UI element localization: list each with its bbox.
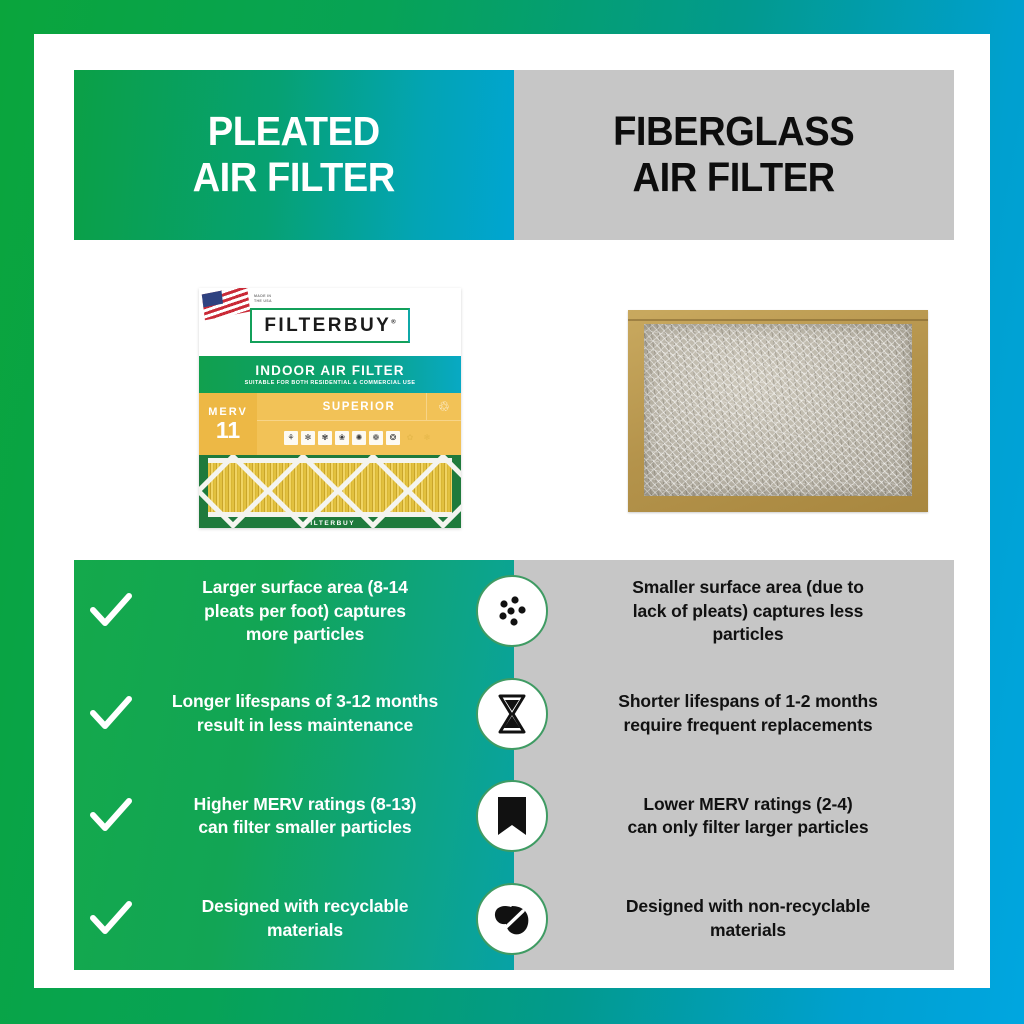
text-line: Designed with non-recyclable	[564, 895, 932, 918]
package-top-section: MADE IN THE USA FILTERBUY®	[199, 288, 461, 356]
text-line: more particles	[148, 623, 462, 646]
pleat-diamond	[335, 455, 411, 528]
feature-icon-smoke: ✺	[352, 431, 366, 445]
comparison-right-rows: Smaller surface area (due to lack of ple…	[514, 560, 954, 970]
comparison-left-text: Larger surface area (8-14 pleats per foo…	[148, 576, 514, 646]
comparison-right-text: Smaller surface area (due to lack of ple…	[514, 576, 954, 646]
check-icon	[74, 696, 148, 732]
text-line: require frequent replacements	[564, 714, 932, 737]
fiberglass-mesh-texture	[644, 324, 912, 496]
product-images-row: MADE IN THE USA FILTERBUY® INDOOR AIR FI…	[74, 240, 954, 560]
comparison-left-text: Longer lifespans of 3-12 months result i…	[148, 690, 514, 737]
brand-trademark: ®	[391, 319, 395, 325]
header-band: PLEATED AIR FILTER FIBERGLASS AIR FILTER	[74, 70, 954, 240]
package-feature-icon-row: ⚘ ✻ ✾ ❀ ✺ ❁ ❂ ✿ ❃	[257, 421, 461, 455]
feature-icon-dust: ⚘	[284, 431, 298, 445]
header-left-title-line2: AIR FILTER	[193, 155, 395, 201]
brand-name-text: FILTERBUY	[264, 315, 391, 336]
check-icon	[74, 593, 148, 629]
usa-flag-icon	[202, 288, 250, 320]
merv-rating-box: MERV 11	[199, 393, 257, 455]
pleat-diamond	[199, 455, 271, 528]
package-banner-subtitle: SUITABLE FOR BOTH RESIDENTIAL & COMMERCI…	[245, 380, 416, 386]
feature-icon-ghost-1: ✿	[403, 431, 417, 445]
header-left-title-line1: PLEATED	[193, 109, 395, 155]
merv-value: 11	[216, 419, 240, 442]
feature-icon-bacteria: ✾	[318, 431, 332, 445]
feature-icon-ghost-2: ❃	[420, 431, 434, 445]
brand-name: FILTERBUY®	[264, 315, 395, 337]
check-icon	[74, 798, 148, 834]
comparison-right-text: Lower MERV ratings (2-4) can only filter…	[514, 793, 954, 840]
comparison-panel: Larger surface area (8-14 pleats per foo…	[74, 560, 954, 970]
text-line: materials	[564, 919, 932, 942]
grade-row: SUPERIOR ♲	[257, 393, 461, 421]
text-line: Shorter lifespans of 1-2 months	[564, 690, 932, 713]
comparison-column-fiberglass: Smaller surface area (due to lack of ple…	[514, 560, 954, 970]
infographic-root: PLEATED AIR FILTER FIBERGLASS AIR FILTER…	[0, 0, 1024, 1024]
package-banner: INDOOR AIR FILTER SUITABLE FOR BOTH RESI…	[199, 356, 461, 393]
text-line: pleats per foot) captures	[148, 600, 462, 623]
pleat-bar-top	[208, 458, 452, 463]
text-line: particles	[564, 623, 932, 646]
comparison-row: Longer lifespans of 3-12 months result i…	[74, 663, 514, 766]
text-line: Longer lifespans of 3-12 months	[148, 690, 462, 713]
text-line: lack of pleats) captures less	[564, 600, 932, 623]
text-line: Smaller surface area (due to	[564, 576, 932, 599]
comparison-left-text: Higher MERV ratings (8-13) can filter sm…	[148, 793, 514, 840]
text-line: Larger surface area (8-14	[148, 576, 462, 599]
comparison-left-rows: Larger surface area (8-14 pleats per foo…	[74, 560, 514, 970]
fiberglass-filter-product-image	[628, 310, 928, 512]
text-line: materials	[148, 919, 462, 942]
feature-icon-pollen: ❀	[335, 431, 349, 445]
comparison-left-text: Designed with recyclable materials	[148, 895, 514, 942]
check-icon	[74, 901, 148, 937]
comparison-row: Higher MERV ratings (8-13) can filter sm…	[74, 765, 514, 868]
package-pleat-window: FILTERBUY	[199, 455, 461, 528]
recycle-icon: ♲	[426, 393, 461, 420]
brand-logo-box: FILTERBUY®	[250, 308, 409, 343]
infographic-canvas: PLEATED AIR FILTER FIBERGLASS AIR FILTER…	[34, 34, 990, 988]
text-line: can filter smaller particles	[148, 816, 462, 839]
pleat-diamond	[265, 455, 341, 528]
fiberglass-frame-seam	[628, 319, 928, 321]
feature-icon-pet-dander: ❁	[369, 431, 383, 445]
comparison-row: Lower MERV ratings (2-4) can only filter…	[514, 765, 954, 868]
comparison-row: Designed with non-recyclable materials	[514, 868, 954, 971]
pleat-support-grid	[208, 459, 452, 516]
comparison-column-pleated: Larger surface area (8-14 pleats per foo…	[74, 560, 514, 970]
comparison-row: Designed with recyclable materials	[74, 868, 514, 971]
package-grade-section: SUPERIOR ♲ ⚘ ✻ ✾ ❀ ✺ ❁ ❂ ✿ ❃	[257, 393, 461, 455]
text-line: Lower MERV ratings (2-4)	[564, 793, 932, 816]
text-line: result in less maintenance	[148, 714, 462, 737]
header-right-title: FIBERGLASS AIR FILTER	[613, 109, 854, 201]
comparison-right-text: Designed with non-recyclable materials	[514, 895, 954, 942]
header-left-pleated: PLEATED AIR FILTER	[74, 70, 514, 240]
header-right-title-line1: FIBERGLASS	[613, 109, 854, 155]
comparison-row: Smaller surface area (due to lack of ple…	[514, 560, 954, 663]
header-left-title: PLEATED AIR FILTER	[193, 109, 395, 201]
text-line: can only filter larger particles	[564, 816, 932, 839]
comparison-row: Larger surface area (8-14 pleats per foo…	[74, 560, 514, 663]
package-footer-brand: FILTERBUY	[199, 520, 461, 527]
header-right-fiberglass: FIBERGLASS AIR FILTER	[514, 70, 954, 240]
comparison-row: Shorter lifespans of 1-2 months require …	[514, 663, 954, 766]
text-line: Higher MERV ratings (8-13)	[148, 793, 462, 816]
made-in-line2: THE USA	[254, 299, 272, 304]
header-right-title-line2: AIR FILTER	[613, 155, 854, 201]
pleat-diamond	[405, 455, 461, 528]
pleated-filter-product-image: MADE IN THE USA FILTERBUY® INDOOR AIR FI…	[199, 288, 461, 528]
feature-icon-odor: ❂	[386, 431, 400, 445]
comparison-right-text: Shorter lifespans of 1-2 months require …	[514, 690, 954, 737]
package-merv-section: MERV 11 SUPERIOR ♲ ⚘ ✻ ✾ ❀ ✺	[199, 393, 461, 455]
feature-icon-mold: ✻	[301, 431, 315, 445]
text-line: Designed with recyclable	[148, 895, 462, 918]
package-banner-title: INDOOR AIR FILTER	[255, 363, 404, 378]
grade-label: SUPERIOR	[323, 401, 396, 413]
made-in-usa-label: MADE IN THE USA	[254, 294, 272, 305]
